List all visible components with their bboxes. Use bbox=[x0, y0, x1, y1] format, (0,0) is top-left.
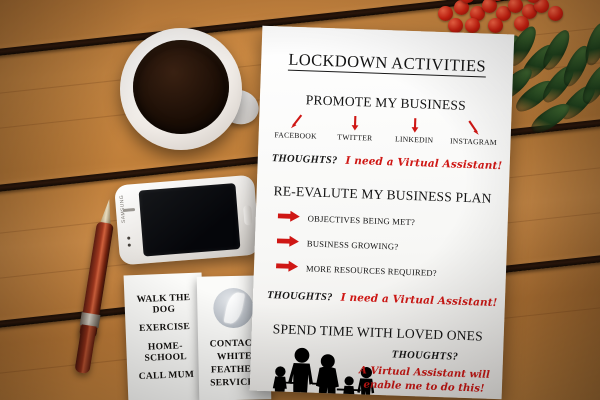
task-item: CALL MUM bbox=[139, 370, 195, 383]
bullet-item: MORE RESOURCES REQUIRED? bbox=[276, 258, 506, 284]
social-channel-linkedin: LINKEDIN bbox=[387, 117, 442, 145]
thought-reevaluate: THOUGHTS? I need a Virtual Assistant! bbox=[267, 289, 505, 309]
bullet-label: BUSINESS GROWING? bbox=[307, 238, 399, 251]
social-channel-facebook: FACEBOOK bbox=[268, 113, 323, 141]
task-item: WALK THE DOG bbox=[127, 293, 200, 318]
phone-brand-label: SAMSUNG bbox=[120, 205, 127, 223]
social-channel-twitter: TWITTER bbox=[328, 115, 383, 143]
section-heading-reevaluate: RE-EVALUTE MY BUSINESS PLAN bbox=[256, 183, 508, 208]
social-channels-row: FACEBOOK TWITTER LINKEDIN bbox=[268, 113, 501, 147]
thought-text: I need a Virtual Assistant! bbox=[345, 155, 502, 172]
social-label: INSTAGRAM bbox=[450, 136, 497, 147]
arrow-right-icon bbox=[276, 258, 299, 277]
bullet-label: MORE RESOURCES REQUIRED? bbox=[306, 263, 437, 278]
coffee-liquid bbox=[133, 40, 229, 134]
reevaluate-bullet-list: OBJECTIVES BEING MET? BUSINESS GROWING? … bbox=[276, 208, 508, 284]
desk-scene: SAMSUNG WALK THE DOG EXERCISE HOME-SCHOO… bbox=[0, 0, 600, 400]
loved-ones-row: THOUGHTS? A Virtual Assistant will enabl… bbox=[250, 339, 504, 400]
white-feather-logo-icon bbox=[213, 288, 254, 329]
section-heading-promote: PROMOTE MY BUSINESS bbox=[260, 91, 512, 116]
thought-loved-ones: THOUGHTS? A Virtual Assistant will enabl… bbox=[354, 348, 495, 396]
phone-home-button[interactable] bbox=[243, 205, 253, 226]
task-item: EXERCISE bbox=[139, 322, 190, 335]
arrow-down-icon bbox=[348, 116, 363, 131]
arrow-diagonal-left-icon bbox=[289, 114, 304, 129]
bullet-item: BUSINESS GROWING? bbox=[277, 233, 507, 259]
task-note-card: WALK THE DOG EXERCISE HOME-SCHOOL CALL M… bbox=[124, 273, 207, 400]
social-label: FACEBOOK bbox=[274, 130, 317, 140]
arrow-diagonal-right-icon bbox=[467, 120, 482, 135]
cup-body bbox=[120, 28, 242, 150]
arrow-right-icon bbox=[277, 233, 300, 252]
task-item: HOME-SCHOOL bbox=[129, 340, 202, 365]
bullet-label: OBJECTIVES BEING MET? bbox=[308, 213, 416, 227]
bullet-item: OBJECTIVES BEING MET? bbox=[277, 208, 507, 234]
lockdown-activities-poster: LOCKDOWN ACTIVITIES PROMOTE MY BUSINESS … bbox=[250, 26, 515, 400]
social-label: TWITTER bbox=[337, 132, 372, 142]
thought-label: THOUGHTS? bbox=[267, 290, 333, 303]
poster-title: LOCKDOWN ACTIVITIES bbox=[261, 49, 514, 78]
phone-screen[interactable] bbox=[139, 183, 241, 256]
thought-label: THOUGHTS? bbox=[355, 348, 495, 364]
arrow-right-icon bbox=[277, 208, 300, 227]
social-label: LINKEDIN bbox=[395, 134, 434, 144]
social-channel-instagram: INSTAGRAM bbox=[446, 119, 501, 147]
smartphone[interactable]: SAMSUNG bbox=[114, 175, 260, 266]
coffee-cup bbox=[120, 28, 242, 150]
arrow-down-icon bbox=[407, 118, 422, 133]
thought-promote: THOUGHTS? I need a Virtual Assistant! bbox=[272, 152, 510, 172]
poster-title-text: LOCKDOWN ACTIVITIES bbox=[288, 50, 486, 78]
thought-text: I need a Virtual Assistant! bbox=[340, 292, 497, 309]
thought-label: THOUGHTS? bbox=[272, 153, 338, 166]
